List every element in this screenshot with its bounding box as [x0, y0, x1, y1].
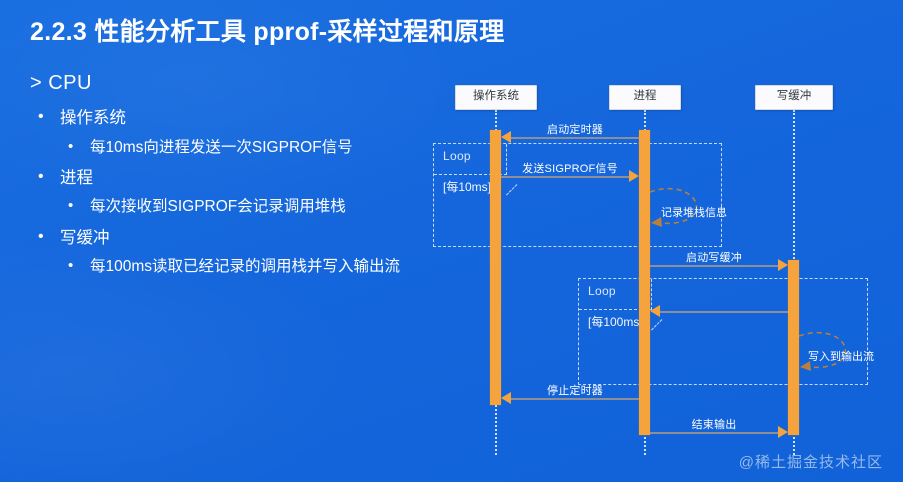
activation-bar-proc: [639, 130, 650, 435]
arrowhead-left: [501, 131, 511, 143]
loop-title: Loop: [443, 149, 471, 163]
loop-title: Loop: [588, 284, 616, 298]
message-label-start-timer: 启动定时器: [511, 121, 639, 137]
participant-wbuf[interactable]: 写缓冲: [755, 85, 833, 110]
arrowhead-left: [501, 392, 511, 404]
slide-canvas: 2.2.3 性能分析工具 pprof-采样过程和原理 > CPU 操作系统 每1…: [0, 0, 903, 482]
message-label-stop-timer: 停止定时器: [511, 382, 639, 398]
message-label-write-output: 写入到输出流: [808, 348, 874, 364]
arrowhead-right: [778, 426, 788, 438]
participant-proc[interactable]: 进程: [609, 85, 681, 110]
message-line-send-sigprof: [501, 176, 629, 178]
loop-condition: [每100ms]: [588, 313, 643, 330]
message-line-start-wbuf: [650, 265, 778, 267]
activation-bar-os: [490, 130, 501, 405]
sequence-diagram: Loop [每10ms] Loop [每100ms] 启动定时器 发送SIGPR…: [0, 0, 903, 482]
participant-os[interactable]: 操作系统: [455, 85, 537, 110]
message-label-end-output: 结束输出: [650, 416, 778, 432]
message-label-start-wbuf: 启动写缓冲: [650, 249, 778, 265]
arrowhead-left: [650, 305, 660, 317]
message-line-read-stacks: [660, 311, 788, 313]
message-label-record-stack: 记录堆栈信息: [661, 204, 727, 220]
watermark: @稀土掘金技术社区: [739, 451, 883, 472]
message-label-send-sigprof: 发送SIGPROF信号: [501, 160, 639, 176]
arrowhead-right: [778, 259, 788, 271]
message-line-stop-timer: [511, 398, 639, 400]
loop-condition: [每10ms]: [443, 178, 491, 195]
message-line-start-timer: [511, 137, 639, 139]
message-line-end-output: [650, 432, 778, 434]
